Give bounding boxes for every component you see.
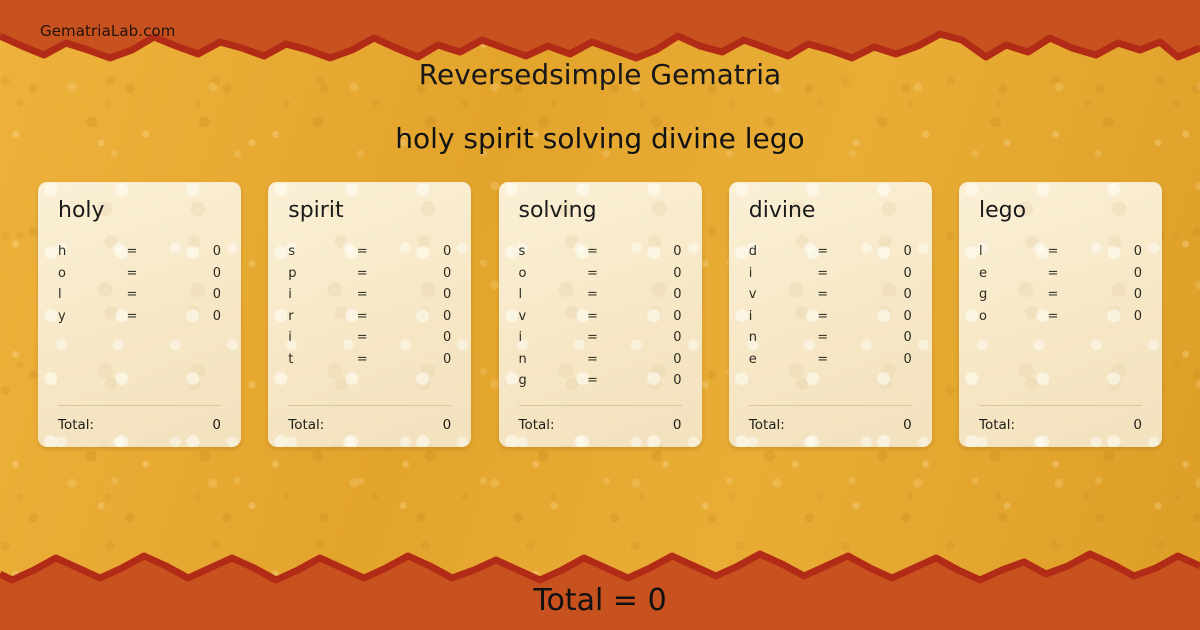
grand-total: Total = 0	[0, 583, 1200, 618]
letter-label: n	[519, 352, 587, 367]
word-cards-container: holyh=0o=0l=0y=0Total:0spirits=0p=0i=0r=…	[38, 182, 1162, 447]
letter-label: i	[519, 330, 587, 345]
equals-sign: =	[817, 266, 859, 281]
letter-label: e	[749, 352, 817, 367]
letter-label: s	[519, 244, 587, 259]
letter-label: g	[979, 287, 1047, 302]
letter-label: o	[979, 309, 1047, 324]
total-label: Total:	[58, 417, 94, 433]
word-card: holyh=0o=0l=0y=0Total:0	[38, 182, 241, 447]
letter-label: v	[749, 287, 817, 302]
card-word-title: divine	[749, 200, 912, 222]
letter-row: e=0	[749, 352, 912, 374]
letter-value: 0	[169, 266, 221, 281]
phrase-subtitle: holy spirit solving divine lego	[0, 122, 1200, 155]
letter-value: 0	[399, 266, 451, 281]
equals-sign: =	[126, 244, 168, 259]
equals-sign: =	[817, 352, 859, 367]
letter-rows: h=0o=0l=0y=0	[58, 244, 221, 405]
letter-value: 0	[629, 373, 681, 388]
equals-sign: =	[817, 287, 859, 302]
letter-row: v=0	[749, 287, 912, 309]
equals-sign: =	[357, 287, 399, 302]
equals-sign: =	[587, 352, 629, 367]
equals-sign: =	[357, 352, 399, 367]
total-label: Total:	[519, 417, 555, 433]
equals-sign: =	[817, 244, 859, 259]
letter-row: d=0	[749, 244, 912, 266]
letter-value: 0	[629, 352, 681, 367]
letter-row: i=0	[749, 309, 912, 331]
card-word-title: spirit	[288, 200, 451, 222]
letter-value: 0	[629, 330, 681, 345]
letter-value: 0	[399, 352, 451, 367]
card-total-row: Total:0	[58, 417, 221, 433]
letter-value: 0	[1090, 287, 1142, 302]
letter-label: i	[749, 266, 817, 281]
letter-label: i	[288, 287, 356, 302]
letter-row: i=0	[288, 330, 451, 352]
word-card: divined=0i=0v=0i=0n=0e=0Total:0	[729, 182, 932, 447]
letter-value: 0	[1090, 244, 1142, 259]
card-total-row: Total:0	[519, 417, 682, 433]
equals-sign: =	[126, 266, 168, 281]
letter-value: 0	[860, 244, 912, 259]
letter-value: 0	[169, 309, 221, 324]
equals-sign: =	[587, 244, 629, 259]
letter-label: r	[288, 309, 356, 324]
letter-rows: s=0o=0l=0v=0i=0n=0g=0	[519, 244, 682, 405]
letter-label: g	[519, 373, 587, 388]
total-value: 0	[212, 417, 221, 433]
letter-value: 0	[860, 309, 912, 324]
equals-sign: =	[1047, 244, 1089, 259]
letter-row: n=0	[519, 352, 682, 374]
letter-row: s=0	[288, 244, 451, 266]
total-value: 0	[1133, 417, 1142, 433]
equals-sign: =	[126, 287, 168, 302]
letter-value: 0	[399, 287, 451, 302]
letter-row: i=0	[749, 266, 912, 288]
card-total-row: Total:0	[288, 417, 451, 433]
equals-sign: =	[1047, 266, 1089, 281]
equals-sign: =	[357, 330, 399, 345]
letter-value: 0	[629, 309, 681, 324]
word-card: solvings=0o=0l=0v=0i=0n=0g=0Total:0	[499, 182, 702, 447]
total-label: Total:	[288, 417, 324, 433]
letter-row: o=0	[979, 309, 1142, 331]
letter-label: v	[519, 309, 587, 324]
letter-label: l	[58, 287, 126, 302]
letter-row: l=0	[58, 287, 221, 309]
letter-value: 0	[399, 330, 451, 345]
letter-row: o=0	[58, 266, 221, 288]
letter-label: o	[519, 266, 587, 281]
letter-label: s	[288, 244, 356, 259]
letter-row: y=0	[58, 309, 221, 331]
letter-label: y	[58, 309, 126, 324]
letter-rows: d=0i=0v=0i=0n=0e=0	[749, 244, 912, 405]
letter-row: i=0	[519, 330, 682, 352]
equals-sign: =	[357, 309, 399, 324]
letter-row: s=0	[519, 244, 682, 266]
total-value: 0	[673, 417, 682, 433]
page-title: Reversedsimple Gematria	[0, 58, 1200, 91]
letter-label: o	[58, 266, 126, 281]
total-label: Total:	[979, 417, 1015, 433]
equals-sign: =	[357, 266, 399, 281]
equals-sign: =	[1047, 309, 1089, 324]
card-word-title: solving	[519, 200, 682, 222]
letter-row: o=0	[519, 266, 682, 288]
letter-label: n	[749, 330, 817, 345]
letter-row: t=0	[288, 352, 451, 374]
letter-row: g=0	[979, 287, 1142, 309]
letter-label: h	[58, 244, 126, 259]
card-word-title: holy	[58, 200, 221, 222]
card-divider	[519, 405, 682, 406]
letter-row: r=0	[288, 309, 451, 331]
letter-value: 0	[399, 244, 451, 259]
letter-value: 0	[169, 287, 221, 302]
letter-row: i=0	[288, 287, 451, 309]
letter-label: l	[519, 287, 587, 302]
letter-label: l	[979, 244, 1047, 259]
total-value: 0	[903, 417, 912, 433]
letter-value: 0	[169, 244, 221, 259]
letter-value: 0	[1090, 309, 1142, 324]
equals-sign: =	[587, 287, 629, 302]
letter-label: d	[749, 244, 817, 259]
card-total-row: Total:0	[979, 417, 1142, 433]
letter-value: 0	[629, 266, 681, 281]
card-word-title: lego	[979, 200, 1142, 222]
total-value: 0	[443, 417, 452, 433]
card-divider	[749, 405, 912, 406]
letter-label: i	[749, 309, 817, 324]
card-divider	[979, 405, 1142, 406]
letter-value: 0	[399, 309, 451, 324]
letter-label: t	[288, 352, 356, 367]
total-label: Total:	[749, 417, 785, 433]
letter-value: 0	[860, 330, 912, 345]
equals-sign: =	[817, 330, 859, 345]
letter-rows: s=0p=0i=0r=0i=0t=0	[288, 244, 451, 405]
card-divider	[288, 405, 451, 406]
word-card: spirits=0p=0i=0r=0i=0t=0Total:0	[268, 182, 471, 447]
letter-row: v=0	[519, 309, 682, 331]
equals-sign: =	[126, 309, 168, 324]
card-total-row: Total:0	[749, 417, 912, 433]
letter-row: g=0	[519, 373, 682, 395]
letter-value: 0	[860, 287, 912, 302]
letter-row: n=0	[749, 330, 912, 352]
letter-value: 0	[1090, 266, 1142, 281]
letter-label: p	[288, 266, 356, 281]
letter-value: 0	[629, 287, 681, 302]
letter-row: l=0	[979, 244, 1142, 266]
letter-value: 0	[860, 266, 912, 281]
equals-sign: =	[587, 330, 629, 345]
equals-sign: =	[587, 266, 629, 281]
site-logo[interactable]: GematriaLab.com	[40, 22, 175, 40]
letter-label: i	[288, 330, 356, 345]
letter-rows: l=0e=0g=0o=0	[979, 244, 1142, 405]
letter-row: p=0	[288, 266, 451, 288]
letter-row: e=0	[979, 266, 1142, 288]
letter-value: 0	[860, 352, 912, 367]
word-card: legol=0e=0g=0o=0Total:0	[959, 182, 1162, 447]
letter-row: l=0	[519, 287, 682, 309]
equals-sign: =	[817, 309, 859, 324]
equals-sign: =	[1047, 287, 1089, 302]
equals-sign: =	[587, 309, 629, 324]
equals-sign: =	[357, 244, 399, 259]
letter-row: h=0	[58, 244, 221, 266]
card-divider	[58, 405, 221, 406]
letter-label: e	[979, 266, 1047, 281]
equals-sign: =	[587, 373, 629, 388]
letter-value: 0	[629, 244, 681, 259]
